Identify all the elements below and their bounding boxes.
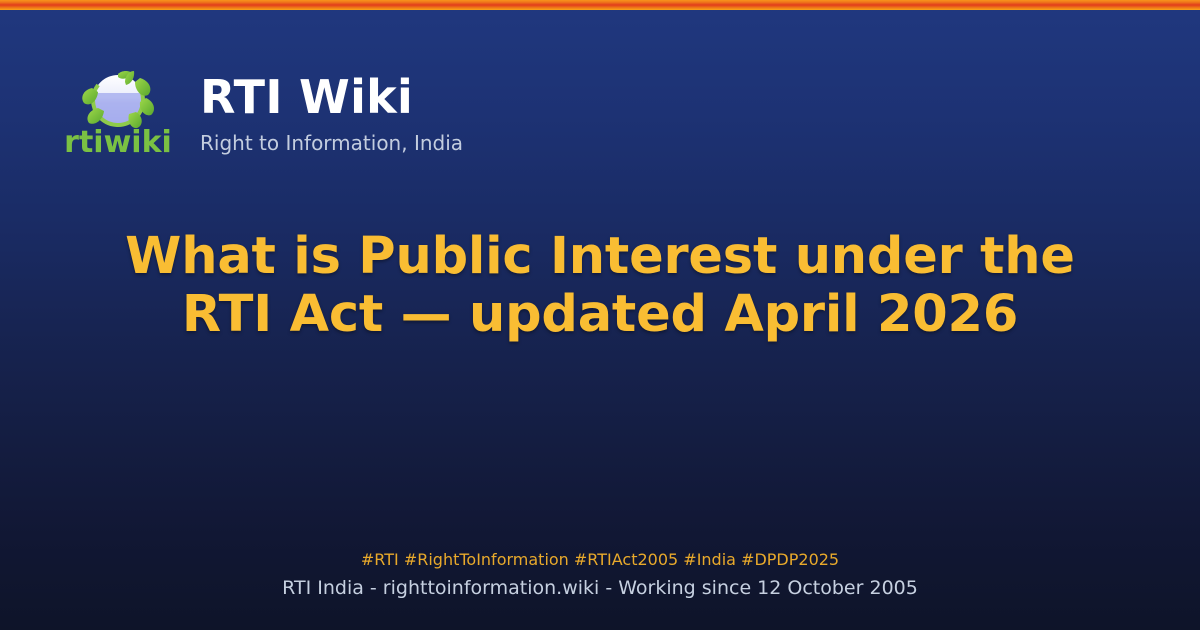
- page-headline: What is Public Interest under the RTI Ac…: [96, 228, 1104, 343]
- footer-hashtags: #RTI #RightToInformation #RTIAct2005 #In…: [0, 548, 1200, 572]
- site-title: RTI Wiki: [200, 73, 463, 121]
- card-footer: #RTI #RightToInformation #RTIAct2005 #In…: [0, 548, 1200, 602]
- top-accent-bar: [0, 0, 1200, 10]
- site-tagline: Right to Information, India: [200, 131, 463, 155]
- logo-wordmark: rtiwiki: [64, 125, 172, 160]
- og-share-card: rtiwiki RTI Wiki Right to Information, I…: [0, 0, 1200, 630]
- brand-text-block: RTI Wiki Right to Information, India: [200, 73, 463, 155]
- rtiwiki-logo: rtiwiki: [62, 68, 174, 160]
- headline-container: What is Public Interest under the RTI Ac…: [0, 228, 1200, 343]
- globe-leaves-icon: rtiwiki: [62, 68, 174, 160]
- footer-meta: RTI India - righttoinformation.wiki - Wo…: [0, 575, 1200, 602]
- brand-header: rtiwiki RTI Wiki Right to Information, I…: [62, 68, 463, 160]
